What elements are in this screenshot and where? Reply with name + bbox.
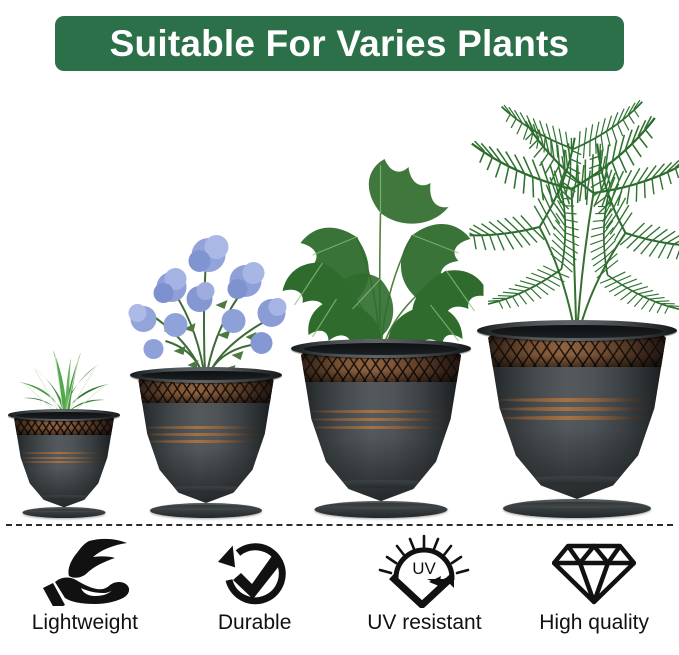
pot-group-large — [291, 339, 471, 518]
pot-foot-ring — [512, 476, 642, 485]
uv-sun-shield-icon: UV — [372, 534, 476, 608]
pot-rim — [291, 339, 471, 358]
pot-rim-interior — [491, 325, 663, 338]
hand-holding-feather-icon — [37, 534, 133, 608]
checkmark-refresh-circle-icon — [216, 534, 294, 608]
pot-rim — [477, 320, 677, 341]
pot-stripe — [306, 418, 455, 421]
feature-uv-resistant: UV UV resistant — [340, 534, 510, 655]
pot-saucer — [503, 499, 651, 518]
pot-group-extra-large — [477, 320, 677, 518]
feature-row: Lightweight Durable — [0, 534, 679, 655]
feature-label: High quality — [539, 612, 649, 633]
pot-large — [291, 339, 471, 510]
diamond-icon — [552, 534, 636, 608]
pot-stripe — [143, 426, 269, 429]
feature-label: UV resistant — [367, 612, 481, 633]
pot-stripe — [143, 433, 269, 436]
pot-rim — [130, 367, 282, 383]
pot-body — [300, 349, 462, 501]
plant-areca-palm — [470, 93, 679, 343]
pot-saucer — [23, 507, 106, 518]
pot-medium — [130, 367, 282, 511]
pot-rim — [8, 409, 120, 421]
plant-monstera — [279, 159, 484, 359]
pot-stripe — [494, 398, 660, 402]
pot-stripe — [306, 426, 455, 429]
pot-stripe — [306, 410, 455, 413]
pot-saucer — [150, 503, 262, 518]
pot-rim-interior — [304, 343, 459, 355]
pot-body — [14, 415, 115, 507]
feature-durable: Durable — [170, 534, 340, 655]
feature-label: Durable — [218, 612, 292, 633]
pot-stripe — [143, 440, 269, 443]
pot-extra-large — [477, 320, 677, 509]
pot-stripe — [18, 457, 111, 459]
section-divider — [6, 524, 673, 526]
pot-group-medium — [130, 367, 282, 518]
pot-stripe — [18, 461, 111, 463]
pot-rim-interior — [141, 371, 272, 381]
headline-text: Suitable For Varies Plants — [110, 25, 570, 62]
infographic-page: Suitable For Varies Plants — [0, 0, 679, 655]
plant-purple-flowering — [114, 209, 299, 384]
pot-saucer — [315, 501, 448, 518]
pot-foot-ring — [157, 486, 256, 493]
pot-foot-ring — [323, 480, 440, 488]
feature-high-quality: High quality — [509, 534, 679, 655]
pot-group-small — [8, 409, 120, 518]
pot-stripe — [494, 407, 660, 411]
pot-foot-ring — [28, 495, 101, 500]
product-scene — [0, 78, 679, 518]
pot-rim-interior — [16, 412, 112, 419]
feature-lightweight: Lightweight — [0, 534, 170, 655]
feature-label: Lightweight — [32, 612, 138, 633]
headline-banner: Suitable For Varies Plants — [55, 16, 624, 71]
svg-text:UV: UV — [413, 559, 437, 578]
pot-stripe — [18, 452, 111, 454]
pot-body — [487, 331, 667, 499]
pot-body — [138, 375, 275, 503]
pot-stripe — [494, 416, 660, 420]
pot-small — [8, 409, 120, 513]
